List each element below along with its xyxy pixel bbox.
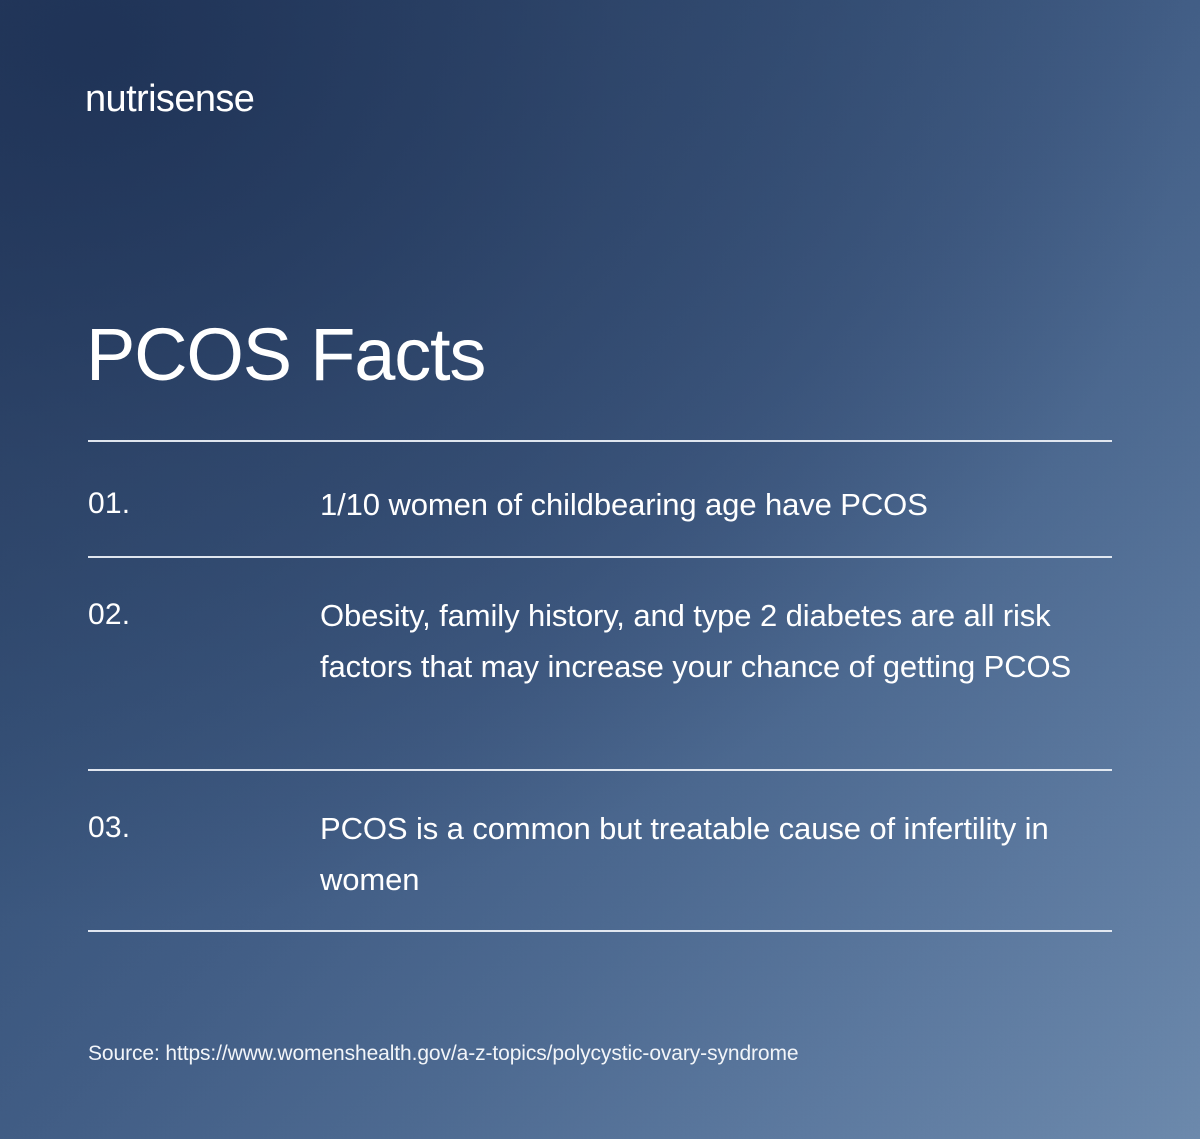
fact-text-1: 1/10 women of childbearing age have PCOS: [320, 479, 1080, 530]
fact-number-3: 03.: [88, 803, 320, 853]
fact-text-2: Obesity, family history, and type 2 diab…: [320, 590, 1080, 692]
infographic-card: nutrisense PCOS Facts 01. 1/10 women of …: [0, 0, 1200, 1139]
divider-after-fact-1: [88, 556, 1112, 558]
fact-row-2: 02. Obesity, family history, and type 2 …: [88, 590, 1112, 692]
nutrisense-logo: nutrisense: [85, 80, 254, 118]
fact-number-1: 01.: [88, 479, 320, 529]
divider-bottom: [88, 930, 1112, 932]
divider-top: [88, 440, 1112, 442]
fact-number-2: 02.: [88, 590, 320, 640]
fact-row-1: 01. 1/10 women of childbearing age have …: [88, 479, 1112, 530]
source-citation: Source: https://www.womenshealth.gov/a-z…: [88, 1040, 798, 1067]
page-title: PCOS Facts: [86, 318, 485, 392]
divider-after-fact-2: [88, 769, 1112, 771]
fact-row-3: 03. PCOS is a common but treatable cause…: [88, 803, 1112, 905]
fact-text-3: PCOS is a common but treatable cause of …: [320, 803, 1080, 905]
